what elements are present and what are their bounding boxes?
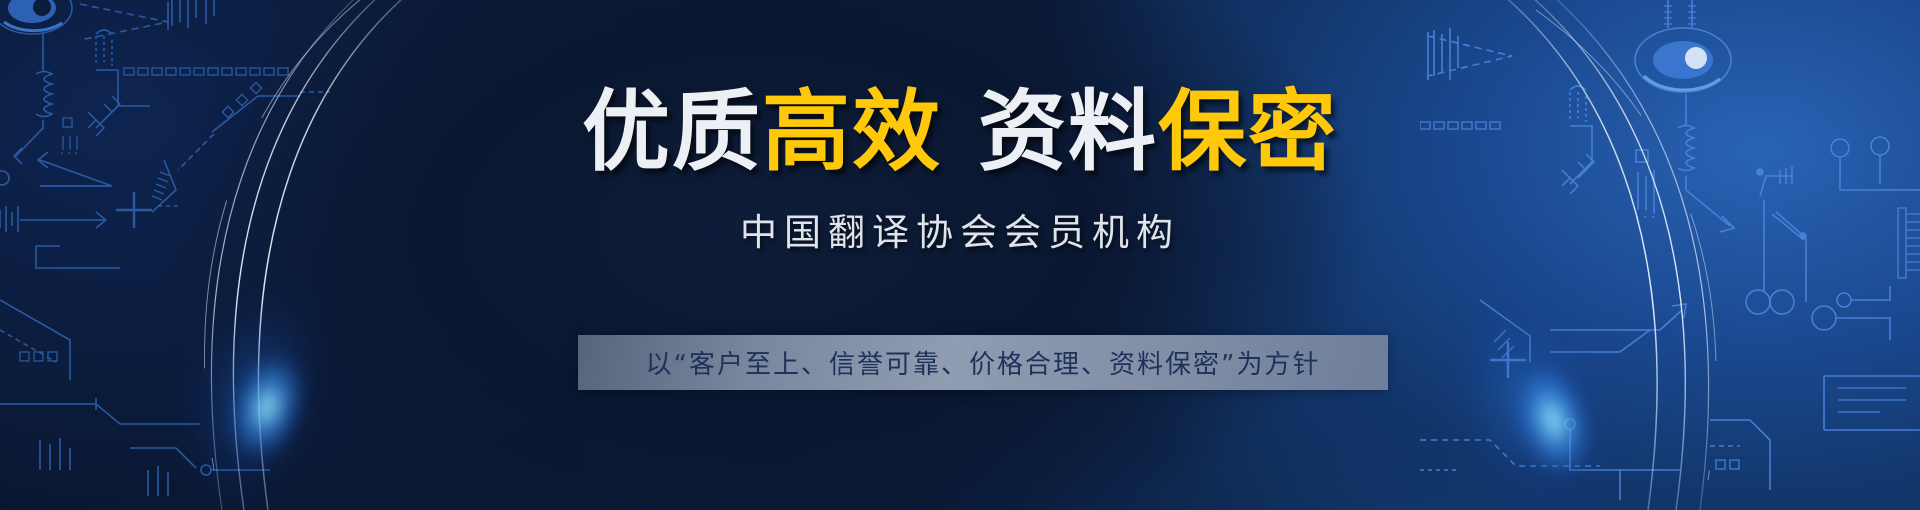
- tagline-quoted: 客户至上、信誉可靠、价格合理、资料保密: [689, 350, 1221, 380]
- banner-content: 优质高效资料保密 中国翻译协会会员机构: [0, 0, 1920, 510]
- title-segment-3: 资料: [978, 80, 1158, 183]
- banner-title: 优质高效资料保密: [582, 88, 1338, 176]
- tagline-box: 以“客户至上、信誉可靠、价格合理、资料保密”为方针: [578, 335, 1388, 390]
- tagline-prefix: 以: [645, 350, 673, 380]
- tagline-suffix: 为方针: [1236, 350, 1320, 380]
- banner-subtitle: 中国翻译协会会员机构: [740, 202, 1180, 256]
- hero-banner: 优质高效资料保密 中国翻译协会会员机构 以“客户至上、信誉可靠、价格合理、资料保…: [0, 0, 1920, 510]
- title-segment-2: 高效: [762, 80, 942, 183]
- title-segment-4: 保密: [1158, 80, 1338, 183]
- tagline-quote-open: “: [674, 350, 689, 380]
- tagline-text: 以“客户至上、信誉可靠、价格合理、资料保密”为方针: [645, 344, 1320, 381]
- title-segment-1: 优质: [582, 80, 762, 183]
- tagline-quote-close: ”: [1221, 350, 1236, 380]
